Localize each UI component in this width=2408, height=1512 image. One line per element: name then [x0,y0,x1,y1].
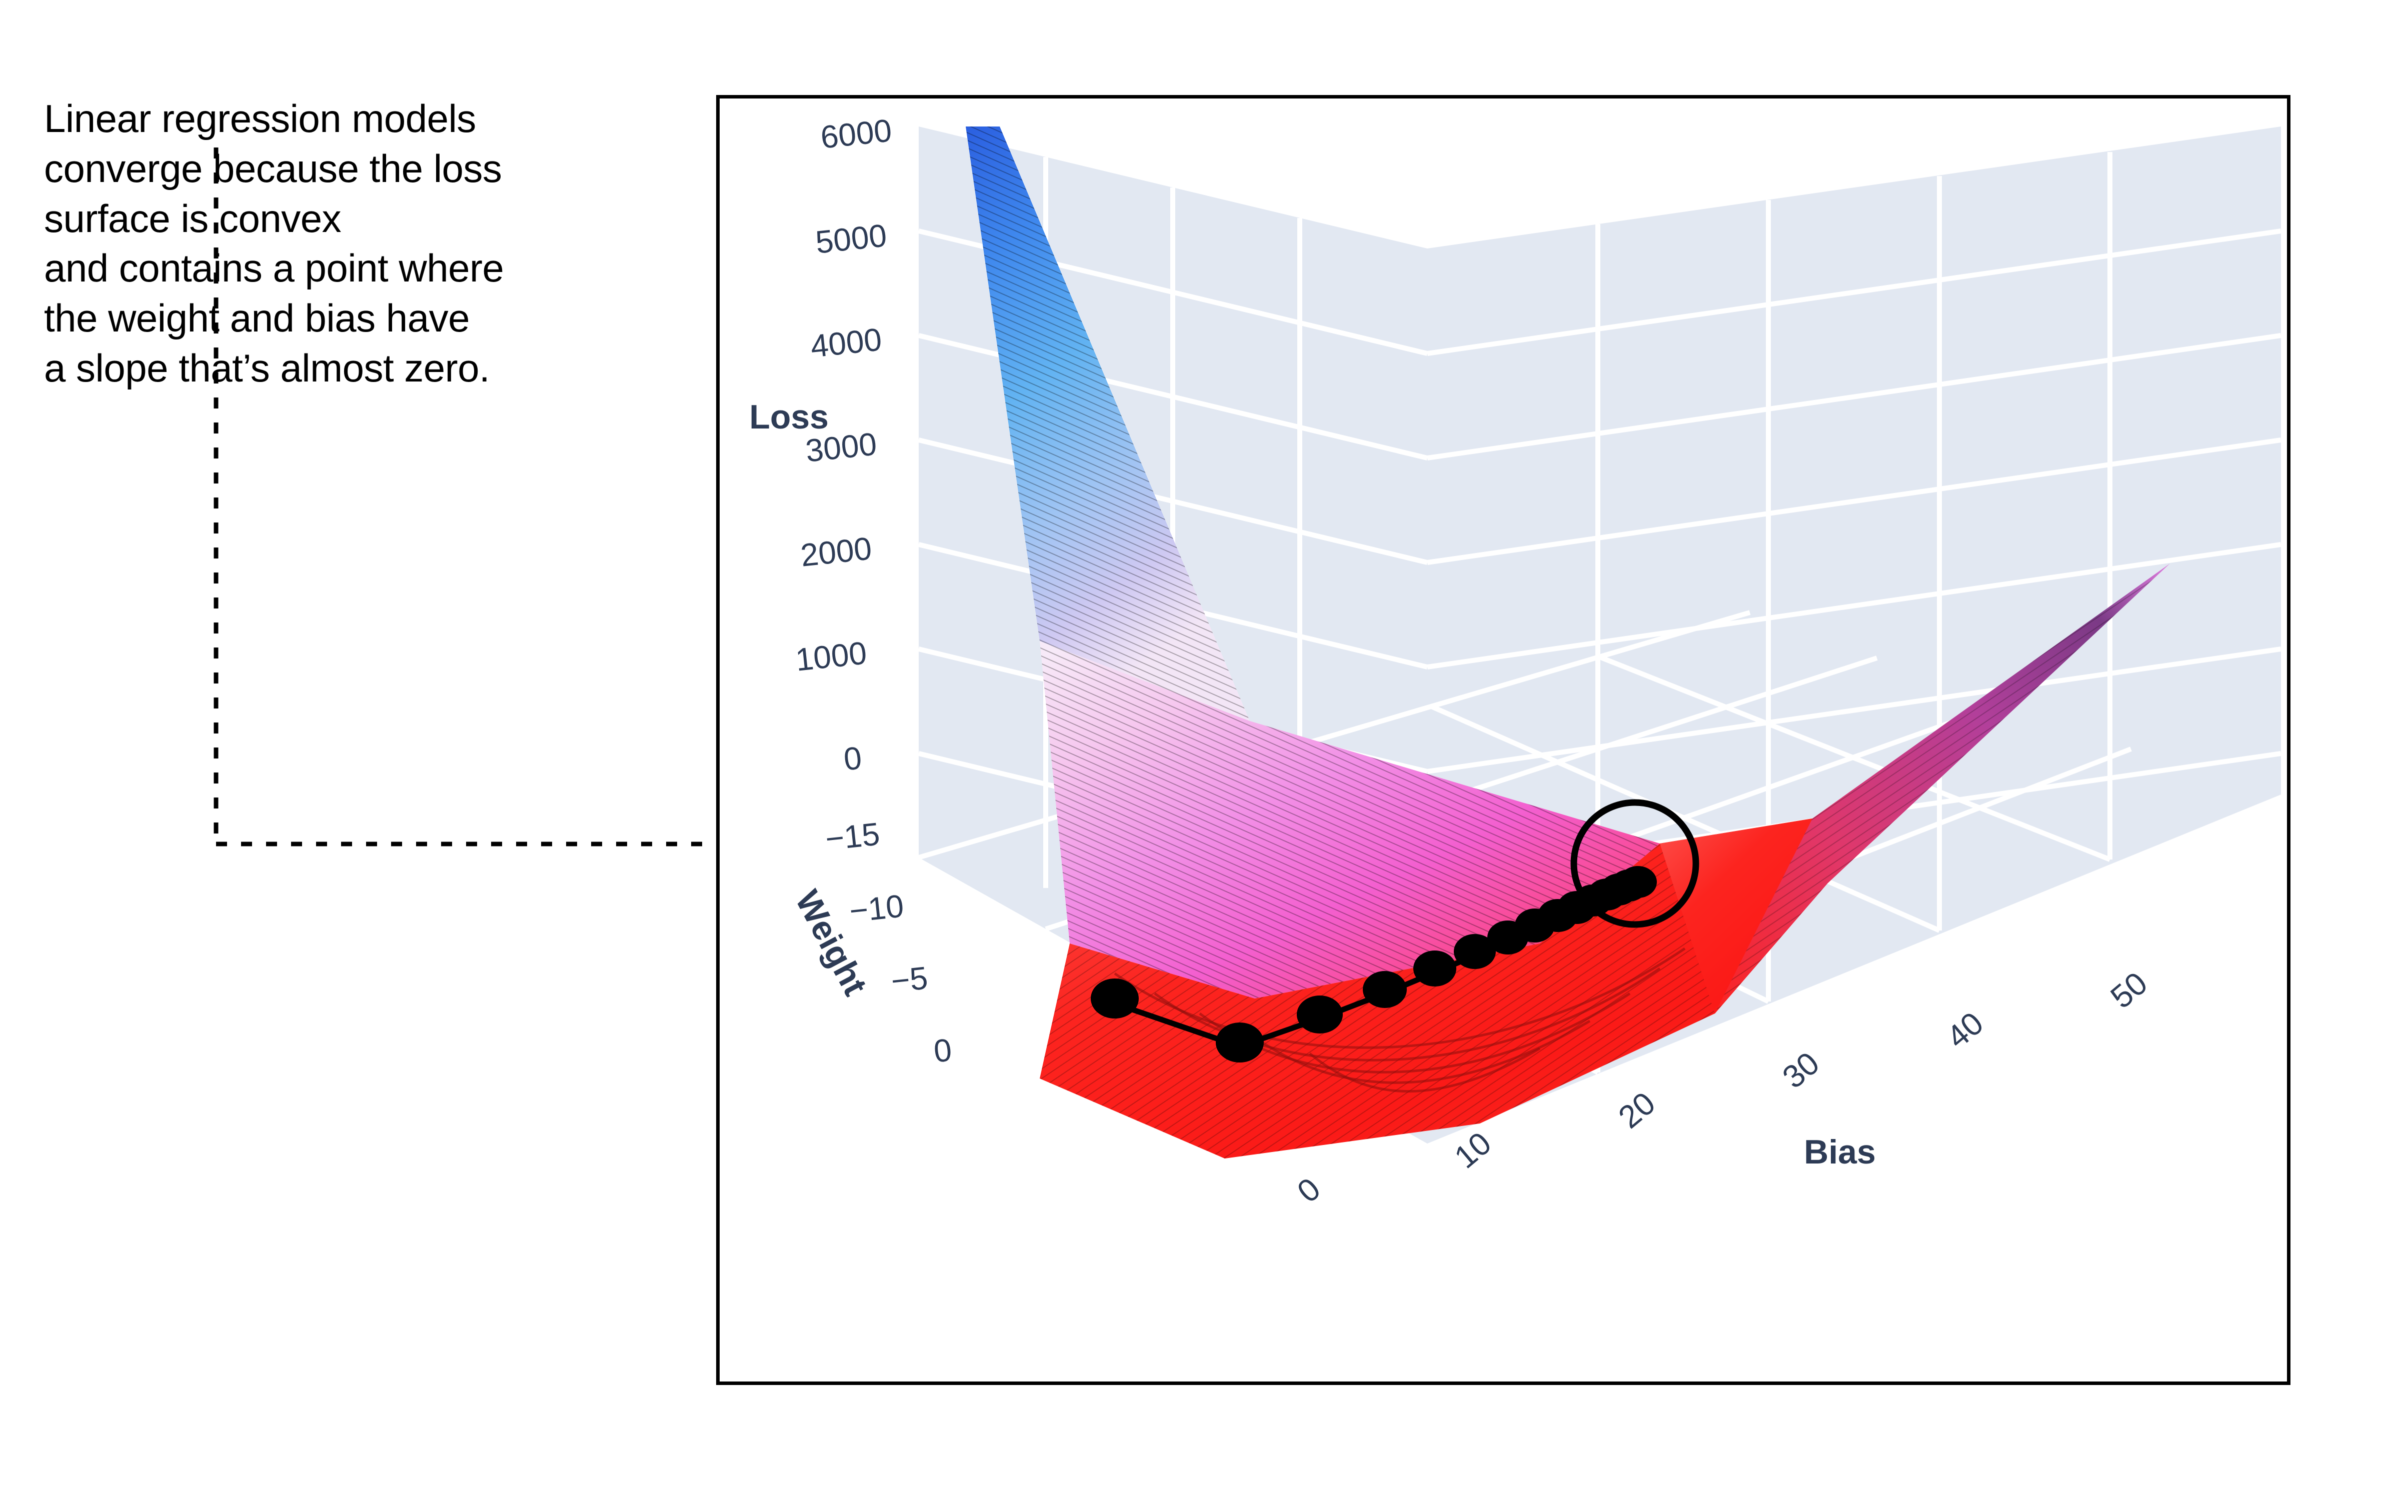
loss-tick-label: 6000 [819,112,893,155]
loss-axis-title: Loss [749,398,829,436]
weight-tick-label: −5 [889,959,929,999]
loss-tick-label: 4000 [809,321,883,364]
loss-tick-label: 2000 [799,530,873,573]
path-marker [1297,995,1343,1033]
loss-tick-label: 0 [842,739,864,777]
weight-tick-label: −10 [848,887,905,929]
surface-plot: 6000 5000 4000 3000 2000 1000 0 Loss −15… [720,98,2287,1381]
bias-tick-label: 0 [1290,1170,1327,1209]
weight-tick-label: −15 [824,815,881,857]
loss-tick-label: 5000 [814,217,888,260]
annotation-text: Linear regression models converge becaus… [44,94,669,393]
bias-tick-label: 30 [1775,1045,1826,1095]
bias-tick-label: 10 [1447,1125,1498,1175]
path-marker [1216,1022,1264,1062]
bias-tick-label: 20 [1611,1085,1662,1135]
loss-axis: 6000 5000 4000 3000 2000 1000 0 Loss [749,112,893,777]
bias-tick-label: 50 [2103,965,2154,1015]
bias-axis-title: Bias [1804,1133,1876,1171]
path-marker [1091,978,1139,1018]
loss-tick-label: 1000 [794,634,868,677]
path-marker [1363,971,1407,1008]
path-marker [1413,950,1456,986]
weight-tick-label: 0 [932,1031,954,1069]
path-marker [1619,866,1657,898]
bias-tick-label: 40 [1939,1005,1990,1055]
surface-plot-frame: 6000 5000 4000 3000 2000 1000 0 Loss −15… [716,95,2290,1385]
